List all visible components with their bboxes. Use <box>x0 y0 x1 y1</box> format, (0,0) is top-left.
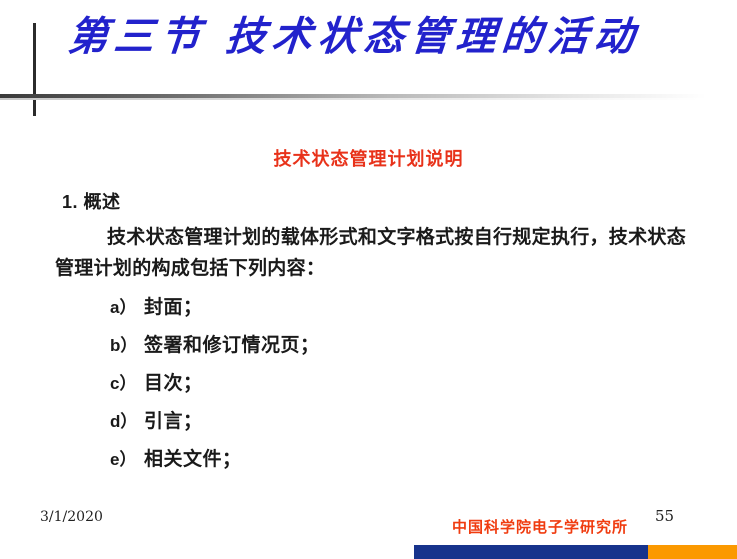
header-vertical-rule <box>33 23 36 116</box>
list-item: c） 目次； <box>110 368 630 406</box>
list-item-label: 目次； <box>144 368 203 395</box>
footer-page-number: 55 <box>655 507 674 525</box>
header-horizontal-rule-shadow <box>0 98 700 100</box>
list-item-marker: e） <box>110 445 144 470</box>
list-item: a） 封面； <box>110 292 630 330</box>
footer-bar-blue <box>414 545 648 559</box>
list-item-marker: d） <box>110 407 144 432</box>
list-item-label: 签署和修订情况页； <box>144 330 320 357</box>
list-item-label: 引言； <box>144 406 203 433</box>
presentation-slide: 第三节 技术状态管理的活动 技术状态管理计划说明 1. 概述 技术状态管理计划的… <box>0 0 737 559</box>
list-item-marker: b） <box>110 331 144 356</box>
list-item-marker: a） <box>110 293 144 318</box>
footer-organization: 中国科学院电子学研究所 <box>452 516 628 537</box>
list-item-label: 封面； <box>144 292 203 319</box>
section-heading: 技术状态管理计划说明 <box>0 145 737 171</box>
section-label-overview: 1. 概述 <box>62 188 121 214</box>
lettered-item-list: a） 封面； b） 签署和修订情况页； c） 目次； d） 引言； e） 相关文… <box>110 292 630 482</box>
footer-date: 3/1/2020 <box>40 509 103 525</box>
list-item-marker: c） <box>110 369 144 394</box>
body-paragraph: 技术状态管理计划的载体形式和文字格式按自行规定执行，技术状态管理计划的构成包括下… <box>55 222 695 284</box>
list-item: e） 相关文件； <box>110 444 630 482</box>
list-item: d） 引言； <box>110 406 630 444</box>
list-item-label: 相关文件； <box>144 444 242 471</box>
list-item: b） 签署和修订情况页； <box>110 330 630 368</box>
slide-title: 第三节 技术状态管理的活动 <box>66 13 710 60</box>
footer-bar-orange <box>648 545 737 559</box>
